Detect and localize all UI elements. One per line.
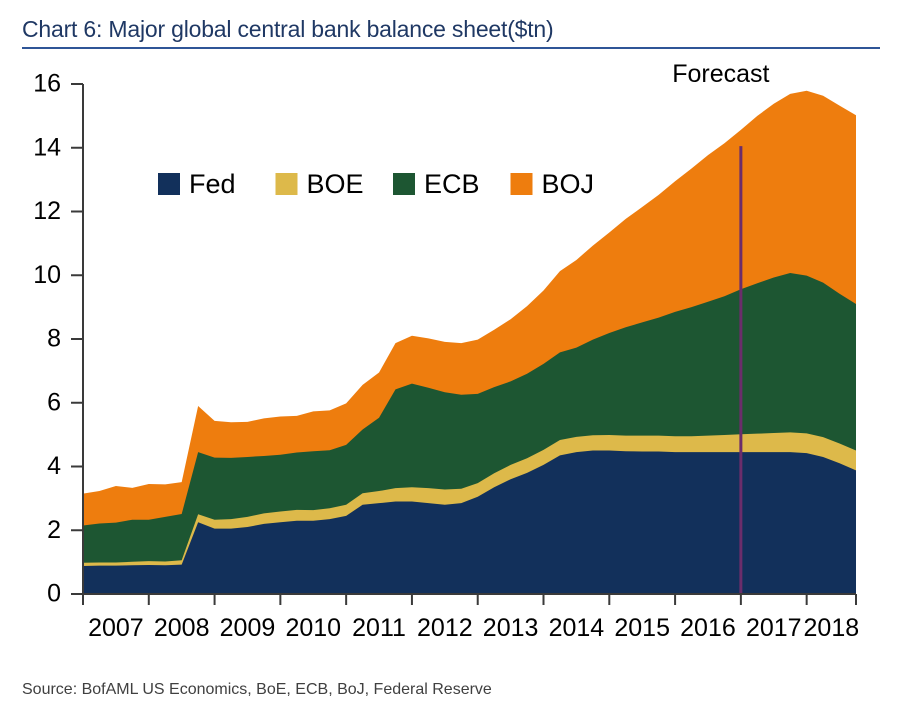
legend-swatch-ecb	[393, 173, 415, 195]
legend-label-boe: BOE	[307, 169, 364, 199]
x-axis-tick-label: 2015	[614, 614, 670, 642]
source-note: Source: BofAML US Economics, BoE, ECB, B…	[22, 681, 492, 699]
x-axis-tick-label: 2008	[154, 614, 210, 642]
x-axis-tick-label: 2007	[88, 614, 144, 642]
legend-swatch-fed	[158, 173, 180, 195]
stacked-area-chart: Forecast 0246810121416200720082009201020…	[0, 52, 901, 662]
y-axis-tick-label: 8	[47, 325, 61, 353]
x-axis-tick-label: 2018	[804, 614, 860, 642]
y-axis-tick-label: 6	[47, 388, 61, 416]
legend-swatch-boe	[276, 173, 298, 195]
chart-legend: FedBOEECBBOJ	[158, 169, 594, 199]
chart-page: Chart 6: Major global central bank balan…	[0, 0, 901, 719]
y-axis-tick-label: 0	[47, 580, 61, 608]
legend-label-ecb: ECB	[424, 169, 480, 199]
y-axis-tick-label: 10	[33, 261, 61, 289]
x-axis-tick-label: 2013	[483, 614, 539, 642]
x-axis-tick-label: 2014	[549, 614, 605, 642]
x-axis-tick-label: 2011	[352, 614, 406, 642]
chart-plot-area: Forecast 0246810121416200720082009201020…	[0, 52, 901, 662]
y-axis-tick-label: 12	[33, 197, 61, 225]
x-axis-tick-label: 2017	[746, 614, 802, 642]
x-axis-tick-label: 2010	[285, 614, 341, 642]
legend-label-boj: BOJ	[542, 169, 595, 199]
legend-swatch-boj	[511, 173, 533, 195]
x-axis-tick-label: 2016	[680, 614, 736, 642]
x-axis-tick-label: 2012	[417, 614, 473, 642]
x-axis-tick-label: 2009	[220, 614, 276, 642]
legend-label-fed: Fed	[189, 169, 236, 199]
chart-title: Chart 6: Major global central bank balan…	[22, 16, 553, 43]
y-axis-tick-label: 14	[33, 133, 61, 161]
y-axis-tick-label: 16	[33, 70, 61, 98]
forecast-label: Forecast	[672, 60, 769, 88]
y-axis-tick-label: 4	[47, 452, 61, 480]
y-axis-tick-label: 2	[47, 516, 61, 544]
title-divider	[22, 47, 880, 49]
